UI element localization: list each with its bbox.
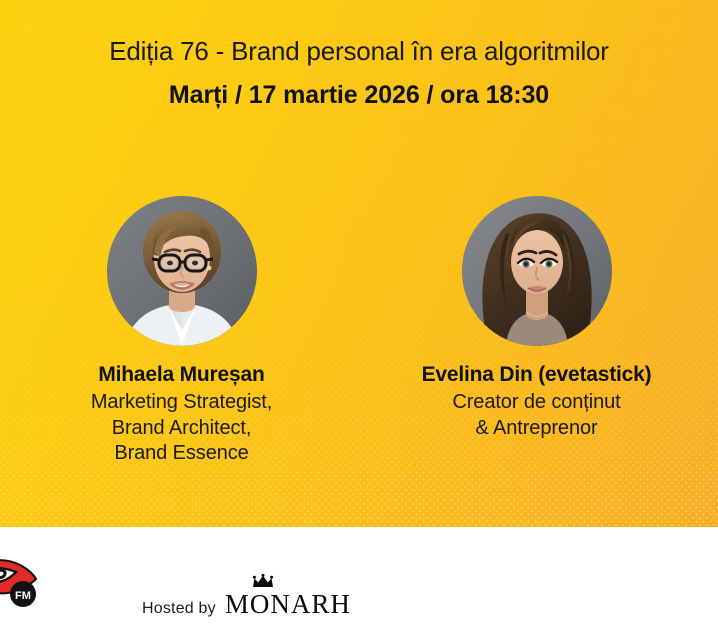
edition-title: Ediția 76 - Brand personal în era algori… bbox=[0, 36, 718, 68]
speaker-card-2: Evelina Din (evetastick) Creator de conț… bbox=[359, 196, 714, 441]
avatar bbox=[107, 196, 257, 346]
speaker-card-1: Mihaela Mureșan Marketing Strategist, Br… bbox=[4, 196, 359, 466]
speaker-role-line: Creator de conținut bbox=[452, 390, 620, 415]
speaker-role-line: Marketing Strategist, bbox=[91, 390, 272, 415]
speaker-name: Evelina Din (evetastick) bbox=[422, 362, 652, 387]
title-block: Ediția 76 - Brand personal în era algori… bbox=[0, 36, 718, 110]
crown-icon bbox=[252, 574, 274, 588]
footer-bar: FM Hosted by MONARH bbox=[0, 527, 718, 640]
speaker-role: Marketing Strategist, Brand Architect, B… bbox=[91, 390, 272, 466]
kiss-fm-logo: FM bbox=[0, 537, 50, 617]
hosted-by-label: Hosted by bbox=[142, 600, 216, 618]
monarh-logo: MONARH bbox=[225, 589, 351, 620]
avatar bbox=[462, 196, 612, 346]
speakers-row: Mihaela Mureșan Marketing Strategist, Br… bbox=[0, 196, 718, 466]
speaker-role: Creator de conținut & Antreprenor bbox=[452, 390, 620, 441]
speaker-name: Mihaela Mureșan bbox=[98, 362, 264, 387]
event-date: Marți / 17 martie 2026 / ora 18:30 bbox=[0, 80, 718, 110]
speaker-role-line: Brand Essence bbox=[91, 441, 272, 466]
event-poster: Ediția 76 - Brand personal în era algori… bbox=[0, 0, 718, 640]
hosted-by-block: Hosted by MONARH bbox=[142, 589, 351, 620]
speaker-role-line: & Antreprenor bbox=[452, 416, 620, 441]
svg-text:FM: FM bbox=[15, 590, 31, 602]
monarh-wordmark: MONARH bbox=[225, 589, 351, 619]
speaker-role-line: Brand Architect, bbox=[91, 416, 272, 441]
